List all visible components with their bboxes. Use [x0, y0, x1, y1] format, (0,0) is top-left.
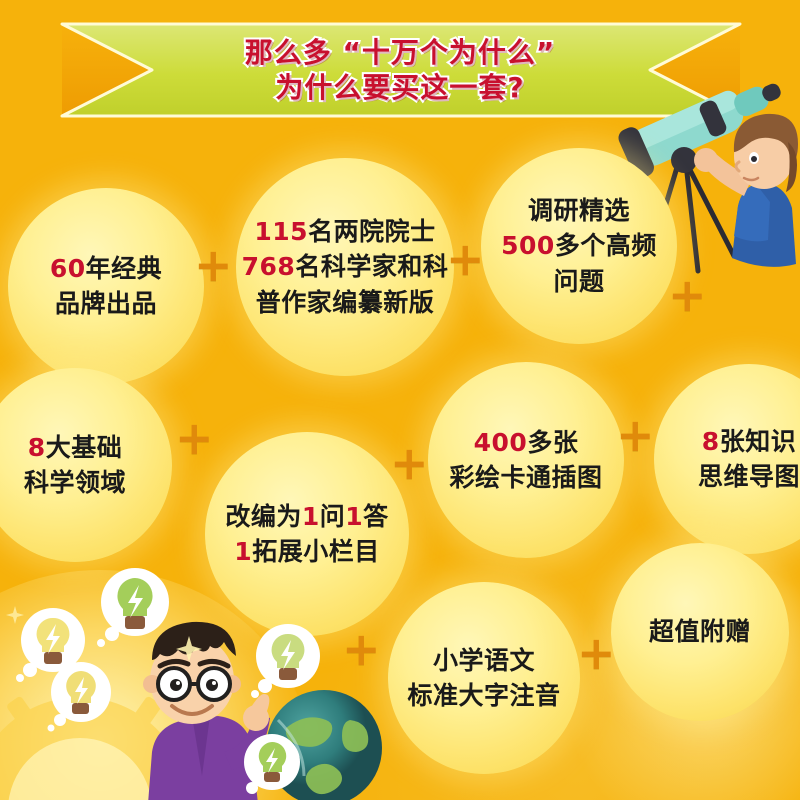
bubble-text: 彩绘卡通插图 — [449, 463, 602, 492]
bubble-60-years[interactable]: 60年经典 品牌出品 — [8, 188, 204, 384]
bubble-text: 拓展小栏目 — [252, 537, 380, 566]
bubble-research-questions[interactable]: 调研精选 500多个高频 问题 — [481, 148, 677, 344]
bubble-line: 普作家编纂新版 — [256, 285, 435, 321]
bubble-line: 8张知识 — [702, 424, 796, 460]
promo-poster: 那么多 “十万个为什么” 为什么要买这一套? — [0, 0, 800, 800]
plus-icon: + — [194, 242, 233, 288]
sparkle-icon — [6, 606, 24, 624]
bubble-line: 调研精选 — [528, 193, 630, 229]
bubble-text: 小学语文 — [433, 646, 535, 675]
bubble-illustrations[interactable]: 400多张 彩绘卡通插图 — [428, 362, 624, 558]
bubble-text: 答 — [363, 502, 389, 531]
banner-headline-line2: 为什么要买这一套? — [275, 71, 524, 104]
bubble-line: 500多个高频 — [501, 228, 657, 264]
highlight-number: 8 — [28, 433, 46, 462]
banner-headline-line1: 那么多 “十万个为什么” — [245, 36, 556, 69]
highlight-number: 1 — [345, 502, 363, 531]
bubble-text: 问 — [320, 502, 346, 531]
ribbon-banner: 那么多 “十万个为什么” 为什么要买这一套? — [0, 16, 800, 124]
bubble-text: 大基础 — [46, 433, 123, 462]
highlight-number: 400 — [474, 428, 528, 457]
bubble-science-fields[interactable]: 8大基础 科学领域 — [0, 368, 172, 562]
bubble-text: 问题 — [553, 267, 604, 296]
bubble-text: 年经典 — [86, 254, 163, 283]
lightbulb-thought-bubble-icon — [238, 730, 306, 798]
plus-icon: + — [342, 626, 381, 672]
bubble-line: 8大基础 — [28, 430, 122, 466]
bubble-text: 科学领域 — [24, 468, 126, 497]
bubble-text: 张知识 — [720, 427, 797, 456]
plus-icon: + — [175, 415, 214, 461]
bubble-text: 调研精选 — [528, 196, 630, 225]
bubble-line: 400多张 — [474, 425, 579, 461]
bubble-text: 改编为 — [225, 502, 302, 531]
highlight-number: 768 — [242, 252, 296, 281]
earth-globe-illustration — [252, 676, 402, 800]
bubble-qa-format[interactable]: 改编为1问1答 1拓展小栏目 — [205, 432, 409, 636]
sparkle-icon — [176, 636, 202, 662]
bubble-line: 彩绘卡通插图 — [449, 460, 602, 496]
bubble-text: 名科学家和科 — [295, 252, 448, 281]
bubble-text: 思维导图 — [698, 462, 800, 491]
lightbulb-thought-bubble-icon — [14, 604, 92, 682]
bubble-line: 115名两院院士 — [254, 214, 435, 250]
plus-icon: + — [616, 412, 655, 458]
bubble-line: 科学领域 — [24, 465, 126, 501]
bubble-text: 多个高频 — [555, 231, 657, 260]
bubble-text: 普作家编纂新版 — [256, 288, 435, 317]
highlight-number: 500 — [501, 231, 555, 260]
bubble-text: 品牌出品 — [55, 289, 157, 318]
bubble-mind-maps[interactable]: 8张知识 思维导图 — [654, 364, 800, 554]
highlight-number: 1 — [302, 502, 320, 531]
plus-icon: + — [577, 630, 616, 676]
bubble-text: 名两院院士 — [308, 217, 436, 246]
bubble-line: 品牌出品 — [55, 286, 157, 322]
bubble-phonetics[interactable]: 小学语文 标准大字注音 — [388, 582, 580, 774]
bubble-line: 超值附赠 — [649, 614, 751, 650]
gear-silhouette-icon — [0, 620, 290, 800]
highlight-number: 115 — [254, 217, 308, 246]
plus-icon: + — [668, 272, 707, 318]
highlight-number: 8 — [702, 427, 720, 456]
lightbulb-thought-bubble-icon — [44, 658, 118, 732]
bubble-line: 小学语文 — [433, 643, 535, 679]
bubble-line: 改编为1问1答 — [225, 499, 388, 535]
bubble-line: 标准大字注音 — [407, 678, 560, 714]
bubble-line: 1拓展小栏目 — [234, 534, 379, 570]
bubble-academicians[interactable]: 115名两院院士 768名科学家和科 普作家编纂新版 — [236, 158, 454, 376]
bubble-line: 768名科学家和科 — [242, 249, 449, 285]
lightbulb-thought-bubble-icon — [92, 564, 178, 650]
bubble-text: 超值附赠 — [649, 617, 751, 646]
bubble-bonus-gift[interactable]: 超值附赠 — [611, 543, 789, 721]
bubble-line: 问题 — [553, 264, 604, 300]
bubble-line: 60年经典 — [50, 251, 162, 287]
highlight-number: 1 — [234, 537, 252, 566]
highlight-number: 60 — [50, 254, 86, 283]
plus-icon: + — [446, 236, 485, 282]
bubble-line: 思维导图 — [698, 459, 800, 495]
bubble-text: 多张 — [527, 428, 578, 457]
plus-icon: + — [390, 440, 429, 486]
bubble-text: 标准大字注音 — [407, 681, 560, 710]
